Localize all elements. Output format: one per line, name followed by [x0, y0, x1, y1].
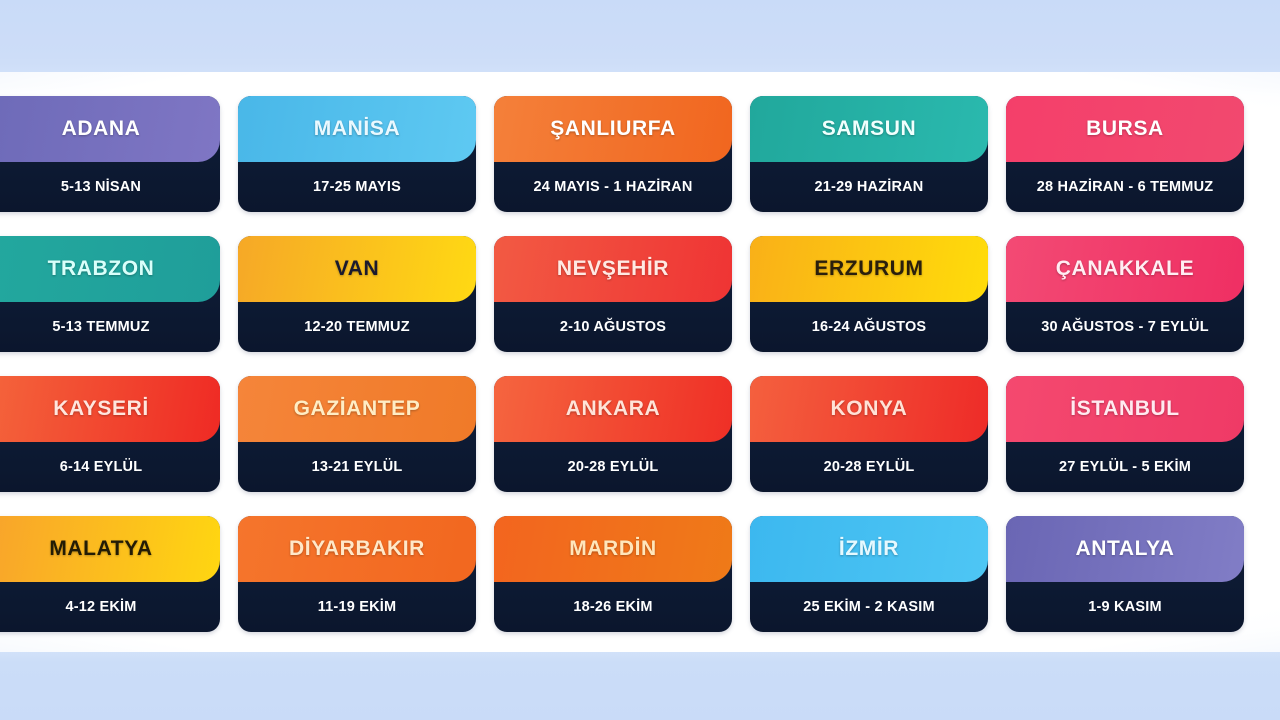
- date-range: 16-24 AĞUSTOS: [750, 302, 988, 352]
- city-card[interactable]: TRABZON5-13 TEMMUZ: [0, 236, 220, 352]
- date-range: 21-29 HAZİRAN: [750, 162, 988, 212]
- city-card[interactable]: ADANA5-13 NİSAN: [0, 96, 220, 212]
- city-card[interactable]: MALATYA4-12 EKİM: [0, 516, 220, 632]
- city-name: VAN: [238, 236, 476, 302]
- city-card[interactable]: ŞANLIURFA24 MAYIS - 1 HAZİRAN: [494, 96, 732, 212]
- city-name: GAZİANTEP: [238, 376, 476, 442]
- city-card[interactable]: İSTANBUL27 EYLÜL - 5 EKİM: [1006, 376, 1244, 492]
- date-range: 17-25 MAYIS: [238, 162, 476, 212]
- city-name: NEVŞEHİR: [494, 236, 732, 302]
- city-name: İZMİR: [750, 516, 988, 582]
- date-range: 1-9 KASIM: [1006, 582, 1244, 632]
- city-card[interactable]: İZMİR25 EKİM - 2 KASIM: [750, 516, 988, 632]
- city-name: SAMSUN: [750, 96, 988, 162]
- date-range: 20-28 EYLÜL: [750, 442, 988, 492]
- city-name: ŞANLIURFA: [494, 96, 732, 162]
- date-range: 18-26 EKİM: [494, 582, 732, 632]
- city-name: KONYA: [750, 376, 988, 442]
- date-range: 6-14 EYLÜL: [0, 442, 220, 492]
- city-name: ÇANAKKALE: [1006, 236, 1244, 302]
- date-range: 20-28 EYLÜL: [494, 442, 732, 492]
- date-range: 25 EKİM - 2 KASIM: [750, 582, 988, 632]
- city-name: MALATYA: [0, 516, 220, 582]
- city-card[interactable]: KAYSERİ6-14 EYLÜL: [0, 376, 220, 492]
- city-card[interactable]: ANTALYA1-9 KASIM: [1006, 516, 1244, 632]
- date-range: 5-13 NİSAN: [0, 162, 220, 212]
- city-card[interactable]: ERZURUM16-24 AĞUSTOS: [750, 236, 988, 352]
- city-name: İSTANBUL: [1006, 376, 1244, 442]
- date-range: 12-20 TEMMUZ: [238, 302, 476, 352]
- city-name: ADANA: [0, 96, 220, 162]
- city-name: MANİSA: [238, 96, 476, 162]
- city-card[interactable]: MARDİN18-26 EKİM: [494, 516, 732, 632]
- date-range: 24 MAYIS - 1 HAZİRAN: [494, 162, 732, 212]
- city-card[interactable]: DİYARBAKIR11-19 EKİM: [238, 516, 476, 632]
- city-name: ANKARA: [494, 376, 732, 442]
- date-range: 27 EYLÜL - 5 EKİM: [1006, 442, 1244, 492]
- date-range: 11-19 EKİM: [238, 582, 476, 632]
- city-name: TRABZON: [0, 236, 220, 302]
- city-card[interactable]: ANKARA20-28 EYLÜL: [494, 376, 732, 492]
- date-range: 28 HAZİRAN - 6 TEMMUZ: [1006, 162, 1244, 212]
- date-range: 4-12 EKİM: [0, 582, 220, 632]
- city-schedule-grid: ADANA5-13 NİSANMANİSA17-25 MAYISŞANLIURF…: [0, 96, 1280, 632]
- city-card[interactable]: GAZİANTEP13-21 EYLÜL: [238, 376, 476, 492]
- city-card[interactable]: ÇANAKKALE30 AĞUSTOS - 7 EYLÜL: [1006, 236, 1244, 352]
- city-card[interactable]: VAN12-20 TEMMUZ: [238, 236, 476, 352]
- city-card[interactable]: KONYA20-28 EYLÜL: [750, 376, 988, 492]
- date-range: 13-21 EYLÜL: [238, 442, 476, 492]
- city-name: ANTALYA: [1006, 516, 1244, 582]
- date-range: 2-10 AĞUSTOS: [494, 302, 732, 352]
- city-name: DİYARBAKIR: [238, 516, 476, 582]
- city-card[interactable]: SAMSUN21-29 HAZİRAN: [750, 96, 988, 212]
- poster-canvas: ADANA5-13 NİSANMANİSA17-25 MAYISŞANLIURF…: [0, 0, 1280, 720]
- city-card[interactable]: NEVŞEHİR2-10 AĞUSTOS: [494, 236, 732, 352]
- city-card[interactable]: MANİSA17-25 MAYIS: [238, 96, 476, 212]
- city-name: ERZURUM: [750, 236, 988, 302]
- city-name: BURSA: [1006, 96, 1244, 162]
- city-name: MARDİN: [494, 516, 732, 582]
- date-range: 30 AĞUSTOS - 7 EYLÜL: [1006, 302, 1244, 352]
- city-name: KAYSERİ: [0, 376, 220, 442]
- city-card[interactable]: BURSA28 HAZİRAN - 6 TEMMUZ: [1006, 96, 1244, 212]
- date-range: 5-13 TEMMUZ: [0, 302, 220, 352]
